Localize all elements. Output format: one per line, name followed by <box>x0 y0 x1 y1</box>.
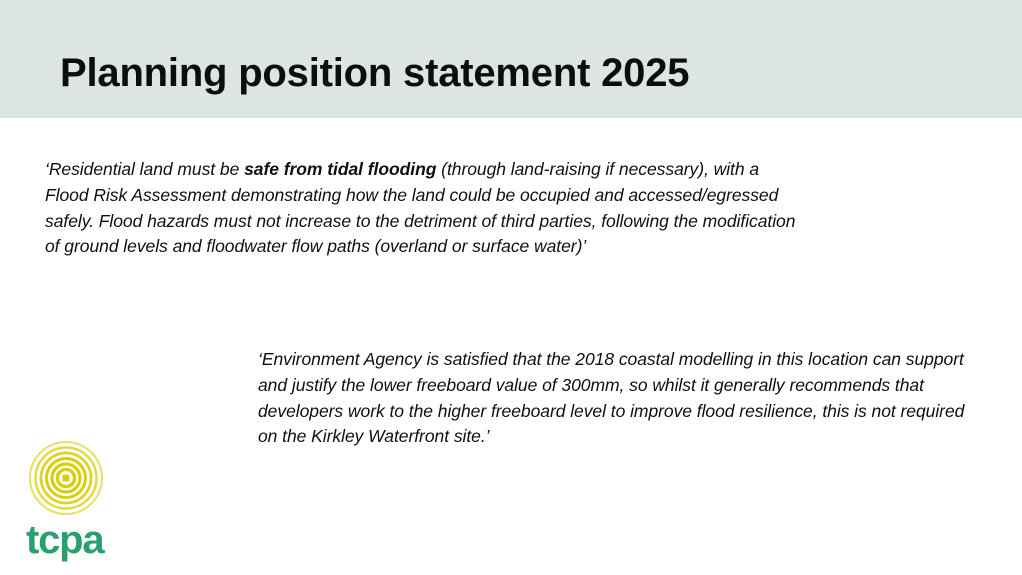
tcpa-logo: tcpa <box>26 440 136 560</box>
slide: Planning position statement 2025 ‘Reside… <box>0 0 1022 575</box>
environment-agency-quote: ‘Environment Agency is satisfied that th… <box>258 347 973 450</box>
page-title: Planning position statement 2025 <box>60 49 689 97</box>
quote-lead-text: ‘Residential land must be <box>45 159 244 179</box>
concentric-rings-icon <box>28 440 104 516</box>
quote-emphasis-text: safe from tidal flooding <box>244 159 436 179</box>
tcpa-wordmark: tcpa <box>26 520 103 560</box>
planning-policy-quote: ‘Residential land must be safe from tida… <box>45 157 805 260</box>
